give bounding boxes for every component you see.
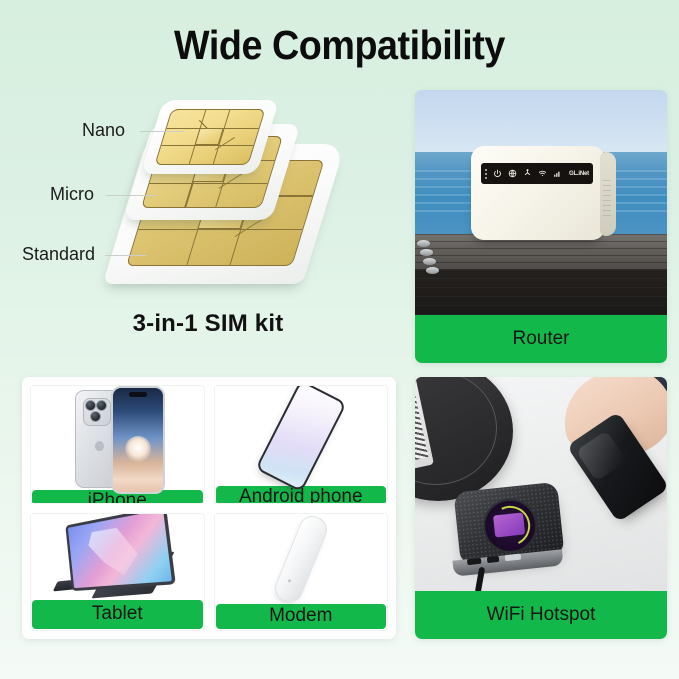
tablet-label-bar: Tablet (32, 600, 203, 630)
sim-label-standard: Standard (22, 244, 95, 265)
sim-label-nano: Nano (82, 120, 125, 141)
sky-background (415, 90, 667, 152)
device-card-android-phone[interactable]: Android phone (214, 385, 389, 504)
android-phone-illustration (255, 385, 347, 492)
sim-label-nano-text: Nano (82, 120, 125, 140)
modem-label-bar: Modem (216, 604, 387, 630)
sim-card-nano (141, 100, 280, 174)
deck-front (415, 269, 667, 315)
sim-label-micro: Micro (50, 184, 94, 205)
router-photo: GL.iNet (415, 90, 667, 315)
iphone-illustration (69, 386, 165, 490)
wallpaper-moon (125, 436, 151, 462)
android-phone-photo (215, 386, 388, 486)
modem-illustration (271, 513, 331, 606)
compatibility-infographic: Wide Compatibility (0, 0, 679, 679)
router-label-bar: Router (415, 315, 667, 363)
tablet-illustration (52, 514, 182, 600)
deck-bolts (417, 240, 445, 276)
tablet-label-text: Tablet (92, 603, 143, 625)
led-dots-icon (485, 169, 487, 179)
device-card-tablet[interactable]: Tablet (30, 513, 205, 632)
apple-logo-icon (95, 441, 104, 451)
sim-label-standard-text: Standard (22, 244, 95, 264)
signal-bars-icon (552, 167, 563, 180)
hotspot-label-bar: WiFi Hotspot (415, 591, 667, 639)
camera-island-icon (83, 398, 111, 426)
globe-icon (507, 167, 518, 180)
panel-router: GL.iNet Router (415, 90, 667, 363)
sim-kit-illustration: Nano Micro Standard (12, 92, 404, 304)
router-device: GL.iNet (471, 146, 605, 240)
device-grid-panel: iPhone Android phone Tablet (22, 377, 396, 639)
modem-photo (215, 514, 388, 604)
sim-chip-nano (154, 109, 265, 165)
iphone-front-view (111, 386, 165, 494)
tablet-screen (66, 513, 176, 591)
device-card-iphone[interactable]: iPhone (30, 385, 205, 504)
iphone-photo (31, 386, 204, 490)
sim-kit-caption: 3-in-1 SIM kit (12, 310, 404, 338)
network-icon (522, 167, 533, 180)
hotspot-label-text: WiFi Hotspot (487, 604, 596, 626)
page-title: Wide Compatibility (27, 22, 652, 69)
hotspot-gauge (493, 512, 525, 537)
leader-line-nano (140, 131, 184, 133)
hotspot-photo (415, 377, 667, 591)
sim-kit-block: Nano Micro Standard 3-in-1 SIM kit (12, 92, 404, 364)
panel-wifi-hotspot: WiFi Hotspot (415, 377, 667, 639)
sim-label-micro-text: Micro (50, 184, 94, 204)
power-icon (492, 167, 503, 180)
dynamic-island-icon (129, 392, 147, 397)
tablet-photo (31, 514, 204, 600)
router-status-strip: GL.iNet (481, 163, 593, 184)
leader-line-standard (105, 255, 147, 257)
hotspot-display (481, 496, 540, 555)
router-brand-logo: GL.iNet (569, 171, 589, 177)
modem-label-text: Modem (269, 605, 332, 627)
router-label-text: Router (512, 328, 569, 350)
router-vents (603, 180, 611, 218)
device-card-modem[interactable]: Modem (214, 513, 389, 632)
leader-line-micro (106, 195, 156, 197)
wifi-icon (537, 167, 548, 180)
